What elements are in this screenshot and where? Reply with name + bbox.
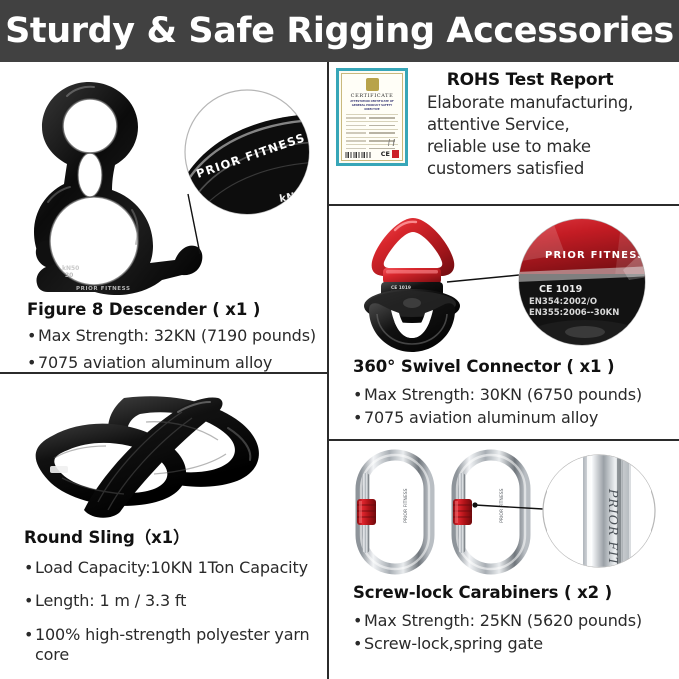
certificate-rule <box>346 137 398 138</box>
rohs-line: customers satisfied <box>427 158 633 180</box>
sling-spec-item: • Load Capacity:10KN 1Ton Capacity <box>24 558 327 578</box>
svg-text:PRIOR FITNESS: PRIOR FITNESS <box>76 286 131 292</box>
swivel-callout-line1: CE 1019 <box>539 284 582 295</box>
infographic-page: Sturdy & Safe Rigging Accessories <box>0 0 679 679</box>
panel-screwlock-carabiners: PRIOR FITNESS PRIOR FITNESS <box>329 441 679 679</box>
carabiner-1: PRIOR FITNESS <box>357 455 429 569</box>
carabiners-image: PRIOR FITNESS PRIOR FITNESS <box>351 449 671 584</box>
bullet-icon: • <box>353 408 364 428</box>
figure8-callout-leader <box>188 194 200 254</box>
certificate-rule <box>346 114 398 115</box>
sling-spec-text: Load Capacity:10KN 1Ton Capacity <box>35 558 327 578</box>
descender-body-mark-rating: kN50 <box>62 265 79 272</box>
certificate-barcode <box>345 152 371 158</box>
sling-title: Round Sling（x1） <box>24 524 327 548</box>
carabiner-spec-text: Screw-lock,spring gate <box>364 634 679 654</box>
certificate-footer-marks: CE <box>381 150 399 158</box>
page-header: Sturdy & Safe Rigging Accessories <box>0 0 679 62</box>
carabiner-spec-text: Max Strength: 25KN (5620 pounds) <box>364 611 679 631</box>
carabiner-2: PRIOR FITNESS <box>453 455 525 569</box>
safety-mark-icon <box>392 150 399 158</box>
figure8-spec-item: • Max Strength: 32KN (7190 pounds) <box>27 326 327 346</box>
sling-spec-item: • 100% high-strength polyester yarn core <box>24 625 327 666</box>
swivel-callout-line2: EN354:2002/O <box>529 297 597 307</box>
page-title: Sturdy & Safe Rigging Accessories <box>5 11 674 51</box>
figure8-text-block: Figure 8 Descender ( x1 ) • Max Strength… <box>27 300 327 381</box>
carabiner-callout-leader <box>475 505 543 509</box>
carabiner-spec-item: • Screw-lock,spring gate <box>353 634 679 654</box>
carabiner-title: Screw-lock Carabiners ( x2 ) <box>353 583 679 602</box>
sling-strap-loops <box>36 396 259 518</box>
rohs-line: attentive Service, <box>427 114 633 136</box>
rohs-content: CERTIFICATE ATTESTATION CERTIFICATE OF G… <box>336 68 633 180</box>
figure8-spec-list: • Max Strength: 32KN (7190 pounds) • 707… <box>27 326 327 374</box>
rohs-line: Elaborate manufacturing, <box>427 92 633 114</box>
bullet-icon: • <box>27 353 38 373</box>
swivel-callout-lens: PRIOR FITNESS CE 1019 EN354:2002/O EN355… <box>515 206 655 352</box>
bullet-icon: • <box>353 634 364 654</box>
certificate-seal-icon <box>366 78 379 91</box>
figure8-spec-text: Max Strength: 32KN (7190 pounds) <box>38 326 327 346</box>
panel-round-sling: Round Sling（x1） • Load Capacity:10KN 1To… <box>0 374 327 679</box>
certificate-rule <box>346 129 398 130</box>
panel-rohs-test-report: CERTIFICATE ATTESTATION CERTIFICATE OF G… <box>329 62 679 204</box>
panel-swivel-connector: CE 1019 EN354:2002 EN355-30KN <box>329 206 679 439</box>
certificate-field-row <box>346 148 398 150</box>
bullet-icon: • <box>24 591 35 611</box>
rohs-title: ROHS Test Report <box>427 70 633 90</box>
swivel-red-loop <box>372 218 455 276</box>
swivel-spec-item: • Max Strength: 30KN (6750 pounds) <box>353 385 679 405</box>
certificate-rule <box>346 121 398 122</box>
svg-text:30: 30 <box>65 272 73 279</box>
swivel-callout-line3: EN355:2006--30KN <box>529 308 619 318</box>
swivel-spec-text: 7075 aviation aluminum alloy <box>364 408 679 428</box>
swivel-connector-image: CE 1019 EN354:2002 EN355-30KN <box>347 210 677 358</box>
swivel-callout-brand-text: PRIOR FITNESS <box>545 250 646 261</box>
certificate-field-row <box>346 132 398 134</box>
certificate-inner: CERTIFICATE ATTESTATION CERTIFICATE OF G… <box>341 73 403 161</box>
certificate-signature <box>382 139 404 146</box>
certificate-subheading: ATTESTATION CERTIFICATE OF GENERAL PRODU… <box>346 100 398 111</box>
figure8-title: Figure 8 Descender ( x1 ) <box>27 300 327 319</box>
carabiner-spec-item: • Max Strength: 25KN (5620 pounds) <box>353 611 679 631</box>
figure8-spec-text: 7075 aviation aluminum alloy <box>38 353 327 373</box>
swivel-black-body <box>364 289 460 352</box>
panel-figure8-descender: kN50 30 PRIOR FITNESS PRIOR FITNESS kN50 <box>0 62 327 372</box>
sling-spec-text: Length: 1 m / 3.3 ft <box>35 591 327 611</box>
ce-mark-icon: CE <box>381 150 390 158</box>
carabiner-text-block: Screw-lock Carabiners ( x2 ) • Max Stren… <box>353 583 679 658</box>
certificate-field-row <box>346 125 398 127</box>
figure8-spec-item: • 7075 aviation aluminum alloy <box>27 353 327 373</box>
bullet-icon: • <box>353 385 364 405</box>
sling-spec-list: • Load Capacity:10KN 1Ton Capacity • Len… <box>24 558 327 666</box>
round-sling-image <box>28 392 308 522</box>
bullet-icon: • <box>353 611 364 631</box>
figure8-callout-lens: PRIOR FITNESS kN50 <box>180 90 324 224</box>
swivel-spec-list: • Max Strength: 30KN (6750 pounds) • 707… <box>353 385 679 429</box>
sling-text-block: Round Sling（x1） • Load Capacity:10KN 1To… <box>24 524 327 679</box>
certificate-heading: CERTIFICATE <box>346 93 398 99</box>
rohs-line: reliable use to make <box>427 136 633 158</box>
sling-spec-item: • Length: 1 m / 3.3 ft <box>24 591 327 611</box>
bullet-icon: • <box>27 326 38 346</box>
swivel-spec-item: • 7075 aviation aluminum alloy <box>353 408 679 428</box>
carabiner-1-engraving: PRIOR FITNESS <box>403 488 409 523</box>
carabiner-2-engraving: PRIOR FITNESS <box>499 488 505 523</box>
sling-label-tag <box>50 466 68 473</box>
swivel-spec-text: Max Strength: 30KN (6750 pounds) <box>364 385 679 405</box>
rohs-text-block: ROHS Test Report Elaborate manufacturing… <box>427 68 633 180</box>
bullet-icon: • <box>24 558 35 578</box>
swivel-callout-leader <box>447 275 519 282</box>
sling-spec-text: 100% high-strength polyester yarn core <box>35 625 327 666</box>
figure8-descender-image: kN50 30 PRIOR FITNESS PRIOR FITNESS kN50 <box>12 74 322 299</box>
swivel-title: 360° Swivel Connector ( x1 ) <box>353 357 679 376</box>
certificate-field-row <box>346 117 398 119</box>
carabiner-spec-list: • Max Strength: 25KN (5620 pounds) • Scr… <box>353 611 679 655</box>
bullet-icon: • <box>24 625 35 645</box>
swivel-text-block: 360° Swivel Connector ( x1 ) • Max Stren… <box>353 357 679 432</box>
certificate-image: CERTIFICATE ATTESTATION CERTIFICATE OF G… <box>336 68 408 166</box>
